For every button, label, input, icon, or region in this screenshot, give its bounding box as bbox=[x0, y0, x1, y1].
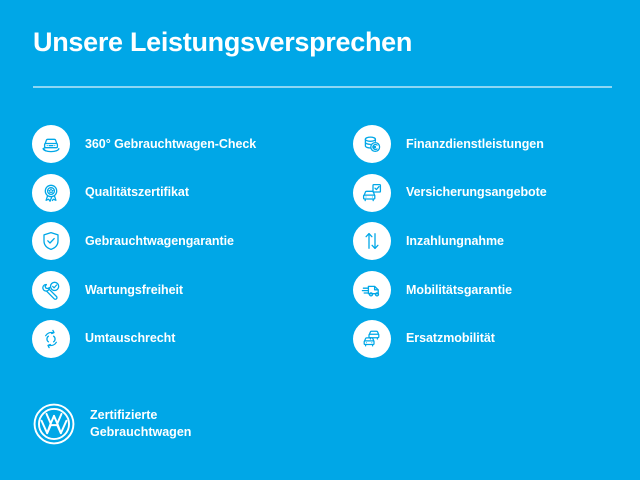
benefit-item: Umtauschrecht bbox=[32, 314, 320, 363]
benefit-item: Versicherungsangebote bbox=[353, 169, 640, 218]
benefit-label: Wartungsfreiheit bbox=[85, 283, 183, 298]
benefit-item: Gebrauchtwagengarantie bbox=[32, 217, 320, 266]
benefit-label: Qualitätszertifikat bbox=[85, 185, 189, 200]
page-title: Unsere Leistungsversprechen bbox=[33, 28, 612, 58]
two-cars-icon bbox=[353, 320, 391, 358]
benefits-column-left: 360° Gebrauchtwagen-Check Qualitätszerti… bbox=[0, 120, 320, 363]
brand-text: Zertifizierte Gebrauchtwagen bbox=[90, 407, 191, 442]
benefit-label: Mobilitätsgarantie bbox=[406, 283, 512, 298]
brand-text-line1: Zertifizierte bbox=[90, 407, 191, 424]
header: Unsere Leistungsversprechen bbox=[33, 28, 612, 58]
exchange-arrows-icon bbox=[32, 320, 70, 358]
benefit-item: 360° Gebrauchtwagen-Check bbox=[32, 120, 320, 169]
benefits-section: 360° Gebrauchtwagen-Check Qualitätszerti… bbox=[0, 120, 640, 363]
benefit-label: Umtauschrecht bbox=[85, 331, 175, 346]
promo-panel: Unsere Leistungsversprechen 3 bbox=[0, 0, 640, 480]
van-motion-icon bbox=[353, 271, 391, 309]
benefit-label: 360° Gebrauchtwagen-Check bbox=[85, 137, 256, 152]
coins-euro-icon bbox=[353, 125, 391, 163]
title-divider bbox=[33, 86, 612, 88]
benefit-label: Gebrauchtwagengarantie bbox=[85, 234, 234, 249]
benefit-item: Wartungsfreiheit bbox=[32, 266, 320, 315]
volkswagen-logo-icon bbox=[32, 402, 76, 446]
benefits-column-right: Finanzdienstleistungen Versicherungsange… bbox=[320, 120, 640, 363]
arrows-up-down-icon bbox=[353, 222, 391, 260]
shield-check-icon bbox=[32, 222, 70, 260]
benefit-item: Ersatzmobilität bbox=[353, 314, 640, 363]
award-rosette-icon bbox=[32, 174, 70, 212]
brand-lockup: Zertifizierte Gebrauchtwagen bbox=[32, 402, 191, 446]
benefit-label: Ersatzmobilität bbox=[406, 331, 495, 346]
benefit-label: Inzahlungnahme bbox=[406, 234, 504, 249]
benefit-item: Qualitätszertifikat bbox=[32, 169, 320, 218]
wrench-check-icon bbox=[32, 271, 70, 309]
benefit-item: Mobilitätsgarantie bbox=[353, 266, 640, 315]
benefit-label: Versicherungsangebote bbox=[406, 185, 547, 200]
benefit-item: Inzahlungnahme bbox=[353, 217, 640, 266]
car-360-check-icon bbox=[32, 125, 70, 163]
benefit-label: Finanzdienstleistungen bbox=[406, 137, 544, 152]
benefit-item: Finanzdienstleistungen bbox=[353, 120, 640, 169]
brand-text-line2: Gebrauchtwagen bbox=[90, 424, 191, 441]
car-document-check-icon bbox=[353, 174, 391, 212]
